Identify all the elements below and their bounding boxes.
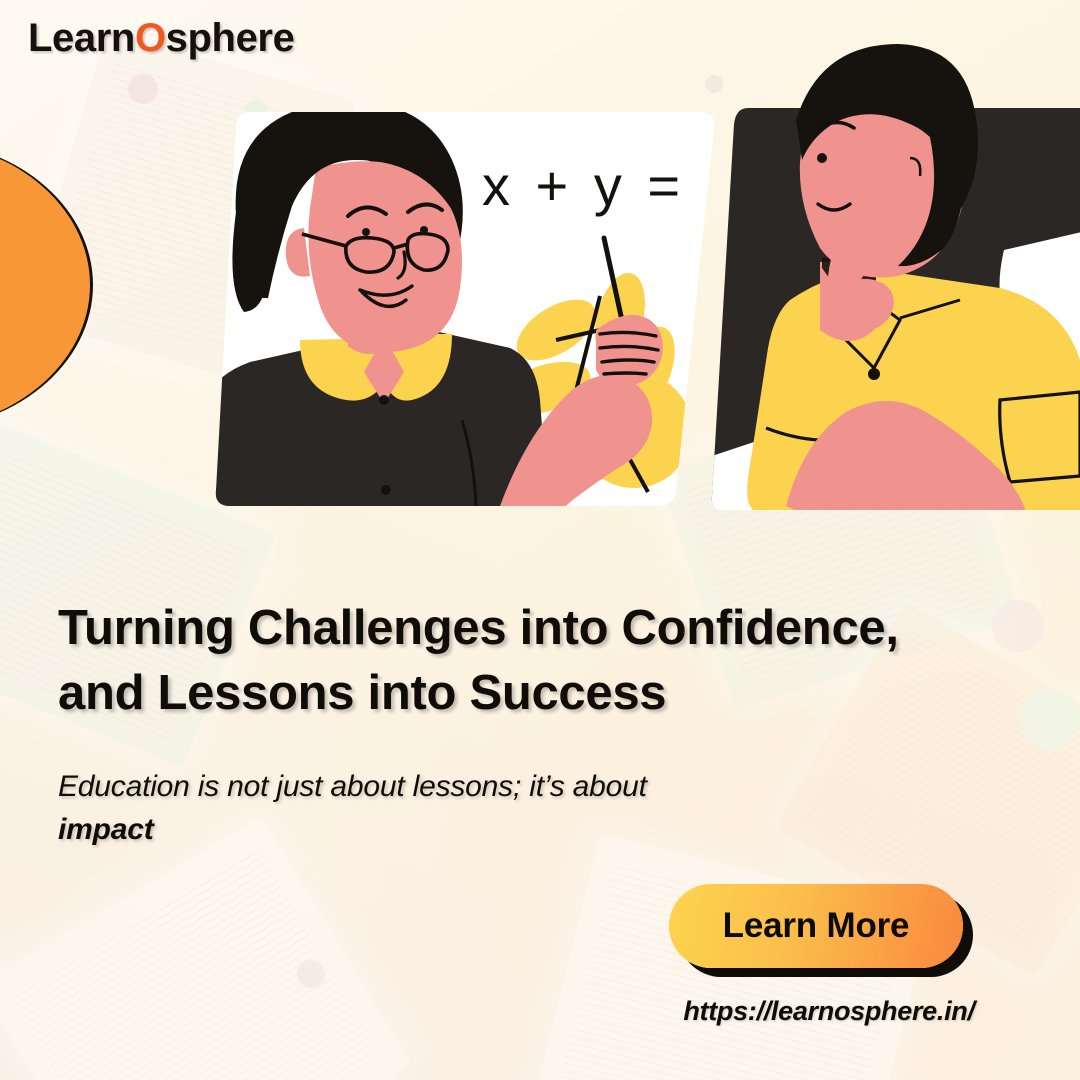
background-dot (992, 600, 1044, 652)
background-dot (297, 960, 325, 988)
background-dot (1020, 690, 1080, 750)
headline-line-1: Turning Challenges into Confidence, (58, 596, 938, 661)
page-title: Turning Challenges into Confidence, and … (58, 596, 938, 725)
student-panel (694, 44, 1080, 560)
subtitle: Education is not just about lessons; it’… (58, 766, 698, 851)
promo-poster: LearnOsphere (0, 0, 1080, 1080)
whiteboard-equation: x + y = a (482, 154, 742, 217)
background-book-shape (0, 816, 411, 1080)
subtitle-prefix: Education is not just about lessons; it’… (58, 770, 647, 803)
website-url[interactable]: https://learnosphere.in/ (669, 996, 989, 1027)
teacher-whiteboard-panel: x + y = a (196, 102, 742, 506)
subtitle-emphasis: impact (58, 813, 154, 846)
hero-illustration: x + y = a (0, 0, 1080, 560)
learn-more-button[interactable]: Learn More (669, 884, 963, 968)
headline-line-2: and Lessons into Success (58, 661, 938, 726)
